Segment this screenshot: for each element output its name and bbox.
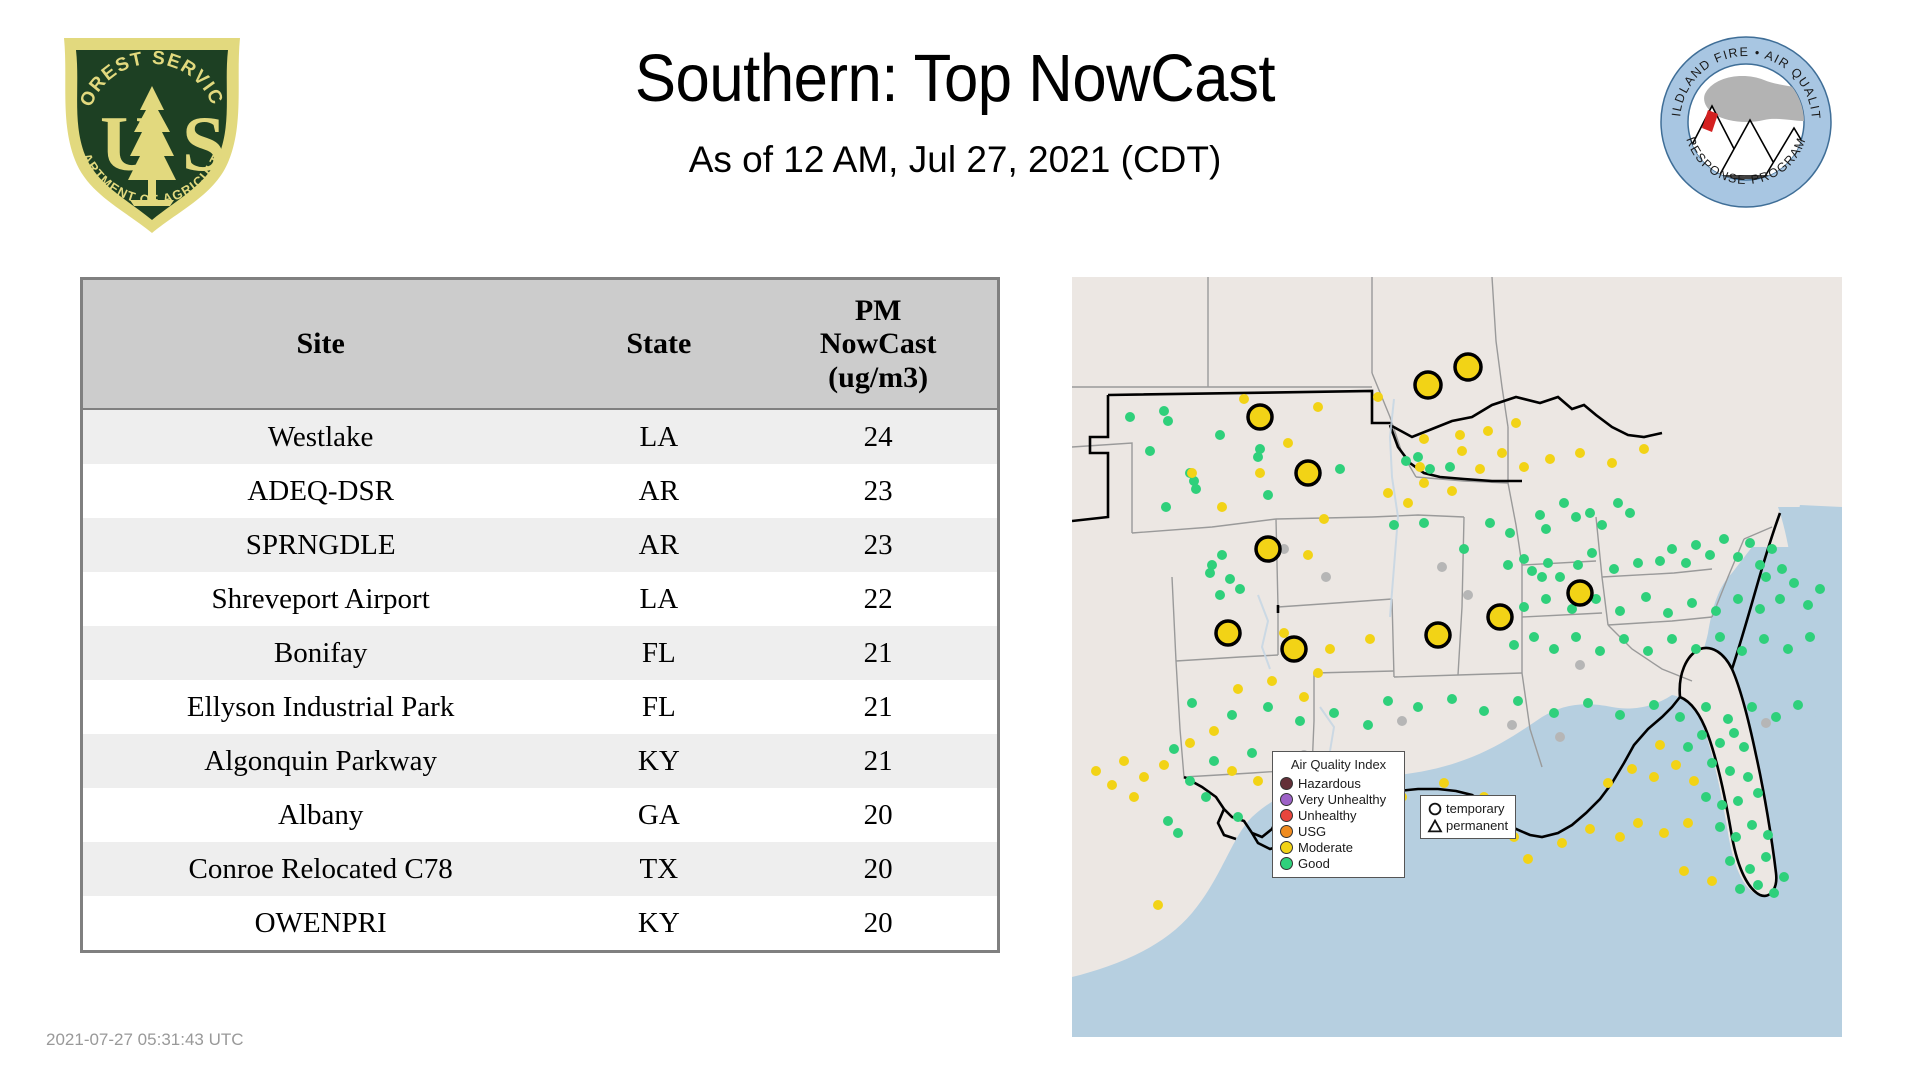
site-marker-conroe-relocated-c78 — [1282, 637, 1306, 661]
good-label: Good — [1298, 856, 1330, 871]
usg-swatch-icon — [1280, 825, 1293, 838]
cell-state: AR — [558, 464, 759, 518]
usg-label: USG — [1298, 824, 1326, 839]
aqi-legend: Air Quality Index Hazardous Very Unhealt… — [1272, 751, 1405, 878]
unhealthy-swatch-icon — [1280, 809, 1293, 822]
cell-state: AR — [558, 518, 759, 572]
cell-value: 23 — [759, 518, 997, 572]
cell-value: 23 — [759, 464, 997, 518]
cell-site: Algonquin Parkway — [83, 734, 558, 788]
top-nowcast-table-panel: Site State PM NowCast (ug/m3) Westlake L… — [80, 277, 1000, 953]
table-row: Shreveport Airport LA 22 — [83, 572, 997, 626]
table-row: Albany GA 20 — [83, 788, 997, 842]
cell-value: 24 — [759, 409, 997, 464]
cell-state: KY — [558, 896, 759, 950]
page-title: Southern: Top NowCast — [316, 40, 1595, 117]
cell-site: Albany — [83, 788, 558, 842]
title-block: Southern: Top NowCast As of 12 AM, Jul 2… — [260, 40, 1650, 181]
cell-site: Westlake — [83, 409, 558, 464]
cell-site: Ellyson Industrial Park — [83, 680, 558, 734]
aqi-legend-item-moderate: Moderate — [1280, 839, 1397, 855]
table-row: Algonquin Parkway KY 21 — [83, 734, 997, 788]
marker-legend-item-temporary: temporary — [1427, 800, 1509, 817]
moderate-label: Moderate — [1298, 840, 1353, 855]
hazardous-label: Hazardous — [1298, 776, 1361, 791]
aqi-legend-item-good: Good — [1280, 855, 1397, 871]
table-row: Conroe Relocated C78 TX 20 — [83, 842, 997, 896]
air-quality-map[interactable]: Air Quality Index Hazardous Very Unhealt… — [1072, 277, 1842, 1037]
marker-type-legend: temporary permanent — [1420, 795, 1516, 839]
site-marker-owenpri — [1415, 372, 1441, 398]
cell-state: LA — [558, 572, 759, 626]
table-body: Westlake LA 24 ADEQ-DSR AR 23 SPRNGDLE A… — [83, 409, 997, 950]
marker-legend-item-permanent: permanent — [1427, 817, 1509, 834]
cell-value: 21 — [759, 734, 997, 788]
cell-state: KY — [558, 734, 759, 788]
table-row: Westlake LA 24 — [83, 409, 997, 464]
usfs-letter-s: S — [182, 100, 225, 187]
cell-site: Bonifay — [83, 626, 558, 680]
good-swatch-icon — [1280, 857, 1293, 870]
aqi-legend-title: Air Quality Index — [1280, 757, 1397, 772]
cell-value: 20 — [759, 842, 997, 896]
page-subtitle: As of 12 AM, Jul 27, 2021 (CDT) — [260, 139, 1650, 181]
cell-site: OWENPRI — [83, 896, 558, 950]
cell-value: 21 — [759, 626, 997, 680]
table-row: SPRNGDLE AR 23 — [83, 518, 997, 572]
cell-site: Conroe Relocated C78 — [83, 842, 558, 896]
site-marker-shreveport-airport — [1256, 537, 1280, 561]
site-marker-albany — [1568, 581, 1592, 605]
site-marker-sprngdle — [1248, 405, 1272, 429]
cell-state: FL — [558, 680, 759, 734]
us-forest-service-logo: FOREST SERVICE DEPARTMENT OF AGRICULTURE… — [52, 28, 252, 233]
page-header: FOREST SERVICE DEPARTMENT OF AGRICULTURE… — [0, 0, 1920, 260]
site-marker-adeq-dsr — [1296, 461, 1320, 485]
cell-value: 21 — [759, 680, 997, 734]
top-nowcast-table: Site State PM NowCast (ug/m3) Westlake L… — [83, 280, 997, 950]
moderate-swatch-icon — [1280, 841, 1293, 854]
cell-site: Shreveport Airport — [83, 572, 558, 626]
table-row: Ellyson Industrial Park FL 21 — [83, 680, 997, 734]
site-marker-westlake — [1216, 621, 1240, 645]
aqi-legend-item-usg: USG — [1280, 823, 1397, 839]
table-header: Site State PM NowCast (ug/m3) — [83, 280, 997, 409]
hazardous-swatch-icon — [1280, 777, 1293, 790]
table-header-row: Site State PM NowCast (ug/m3) — [83, 280, 997, 409]
cell-value: 20 — [759, 896, 997, 950]
cell-value: 20 — [759, 788, 997, 842]
cell-site: SPRNGDLE — [83, 518, 558, 572]
unhealthy-label: Unhealthy — [1298, 808, 1357, 823]
very-unhealthy-swatch-icon — [1280, 793, 1293, 806]
temporary-label: temporary — [1446, 801, 1505, 816]
aqi-legend-item-very-unhealthy: Very Unhealthy — [1280, 791, 1397, 807]
site-marker-algonquin-parkway — [1455, 354, 1481, 380]
table-row: Bonifay FL 21 — [83, 626, 997, 680]
units-label: (ug/m3) — [763, 361, 993, 395]
wildland-fire-air-quality-logo: WILDLAND FIRE • AIR QUALITY RESPONSE PRO… — [1660, 36, 1832, 208]
column-header-site: Site — [83, 280, 558, 409]
pm-label: PM — [763, 294, 993, 328]
table-row: ADEQ-DSR AR 23 — [83, 464, 997, 518]
site-marker-bonifay — [1488, 605, 1512, 629]
triangle-marker-icon — [1427, 818, 1443, 834]
circle-marker-icon — [1427, 801, 1443, 817]
cell-state: LA — [558, 409, 759, 464]
cell-site: ADEQ-DSR — [83, 464, 558, 518]
very-unhealthy-label: Very Unhealthy — [1298, 792, 1386, 807]
site-marker-ellyson-industrial-park — [1426, 623, 1450, 647]
cell-state: GA — [558, 788, 759, 842]
aqi-legend-item-unhealthy: Unhealthy — [1280, 807, 1397, 823]
permanent-label: permanent — [1446, 818, 1508, 833]
footer-timestamp: 2021-07-27 05:31:43 UTC — [46, 1030, 244, 1050]
aqi-legend-item-hazardous: Hazardous — [1280, 775, 1397, 791]
column-header-pm-nowcast: PM NowCast (ug/m3) — [759, 280, 997, 409]
cell-state: FL — [558, 626, 759, 680]
nowcast-label: NowCast — [763, 327, 993, 361]
table-row: OWENPRI KY 20 — [83, 896, 997, 950]
cell-state: TX — [558, 842, 759, 896]
column-header-state: State — [558, 280, 759, 409]
cell-value: 22 — [759, 572, 997, 626]
